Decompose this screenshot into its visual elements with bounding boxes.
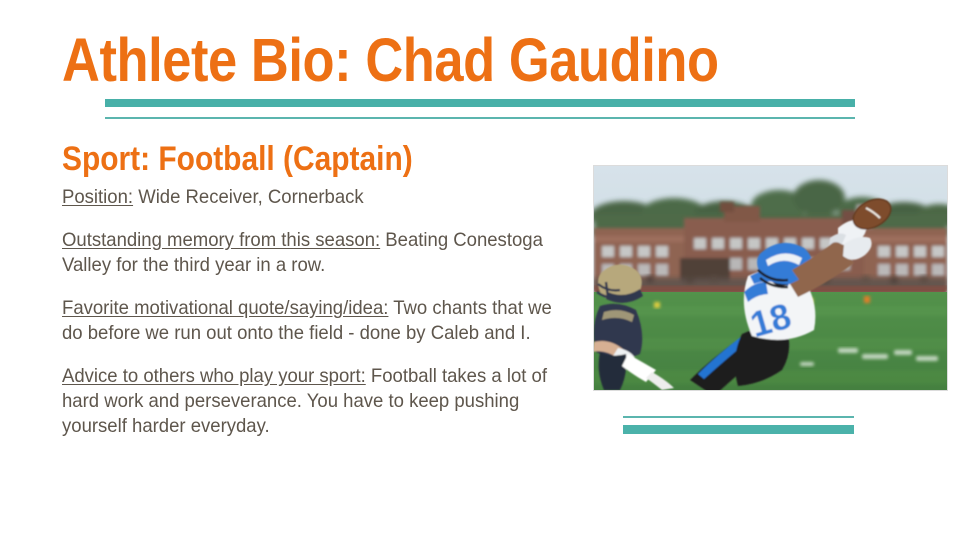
header-rule-thick	[105, 99, 855, 107]
label-position: Position:	[62, 186, 133, 208]
footer-rule-thick	[623, 425, 854, 434]
page-title: Athlete Bio: Chad Gaudino	[62, 28, 719, 92]
label-memory: Outstanding memory from this season:	[62, 229, 380, 251]
label-advice: Advice to others who play your sport:	[62, 365, 366, 387]
bio-paragraph-quote: Favorite motivational quote/saying/idea:…	[62, 296, 573, 346]
footer-rule-thin	[623, 416, 854, 418]
slide-canvas: Athlete Bio: Chad Gaudino Sport: Footbal…	[0, 0, 960, 540]
header-rule-thin	[105, 117, 855, 119]
label-quote: Favorite motivational quote/saying/idea:	[62, 297, 388, 319]
football-action-photo: 18	[594, 166, 947, 390]
bio-paragraph-advice: Advice to others who play your sport: Fo…	[62, 364, 573, 439]
bio-body: Position: Wide Receiver, Cornerback Outs…	[62, 185, 573, 439]
sport-subheading: Sport: Football (Captain)	[62, 141, 413, 178]
bio-paragraph-memory: Outstanding memory from this season: Bea…	[62, 228, 573, 278]
bio-paragraph-position: Position: Wide Receiver, Cornerback	[62, 185, 573, 210]
value-position: Wide Receiver, Cornerback	[133, 186, 364, 208]
